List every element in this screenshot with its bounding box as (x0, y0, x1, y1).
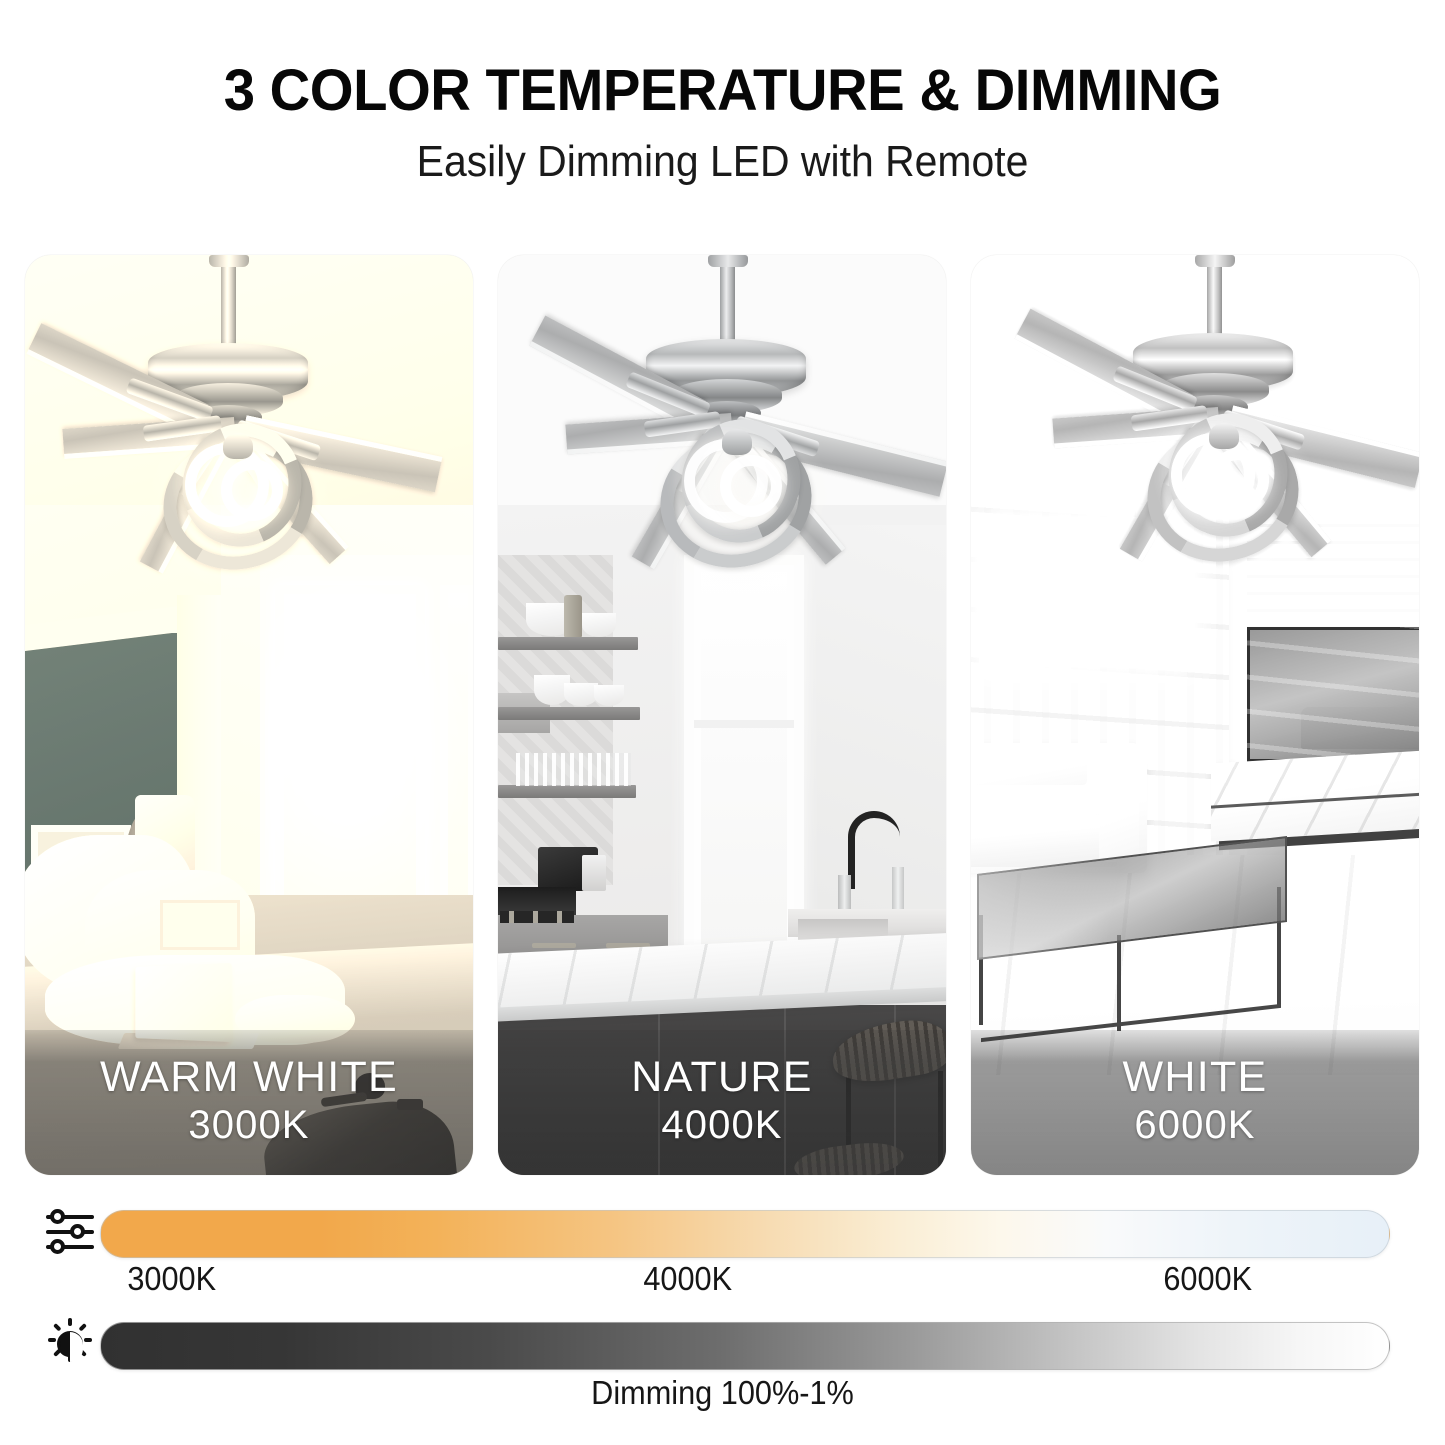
caption-kelvin: 4000K (661, 1100, 782, 1150)
scene-panel-nature[interactable]: NATURE 4000K (498, 255, 946, 1175)
page-subtitle: Easily Dimming LED with Remote (51, 140, 1395, 184)
header: 3 COLOR TEMPERATURE & DIMMING Easily Dim… (0, 0, 1445, 184)
color-temperature-slider[interactable] (100, 1210, 1390, 1258)
page-title: 3 COLOR TEMPERATURE & DIMMING (22, 62, 1424, 120)
caption-warm-white: WARM WHITE 3000K (25, 1030, 473, 1175)
caption-name: WARM WHITE (100, 1055, 398, 1100)
tick-6000k: 6000K (1163, 1260, 1252, 1298)
tick-3000k: 3000K (127, 1260, 216, 1298)
dimming-row: Dimming 100%-1% (0, 1304, 1445, 1384)
caption-white: WHITE 6000K (971, 1030, 1419, 1175)
sliders-icon (44, 1206, 96, 1258)
caption-name: NATURE (631, 1055, 812, 1100)
tick-4000k: 4000K (643, 1260, 732, 1298)
caption-name: WHITE (1122, 1055, 1267, 1100)
scene-panel-warm-white[interactable]: WARM WHITE 3000K (25, 255, 473, 1175)
caption-nature: NATURE 4000K (498, 1030, 946, 1175)
brightness-half-icon (44, 1318, 96, 1370)
color-temperature-row: 3000K 4000K 6000K (0, 1192, 1445, 1272)
caption-kelvin: 3000K (188, 1100, 309, 1150)
scene-panel-white[interactable]: WHITE 6000K (971, 255, 1419, 1175)
scene-panels: WARM WHITE 3000K (25, 255, 1420, 1175)
dimming-slider[interactable] (100, 1322, 1390, 1370)
caption-kelvin: 6000K (1134, 1100, 1255, 1150)
slider-section: 3000K 4000K 6000K Dimming 100%-1% (0, 1192, 1445, 1384)
color-temperature-ticks: 3000K 4000K 6000K (100, 1260, 1390, 1304)
dimming-label: Dimming 100%-1% (51, 1374, 1395, 1412)
